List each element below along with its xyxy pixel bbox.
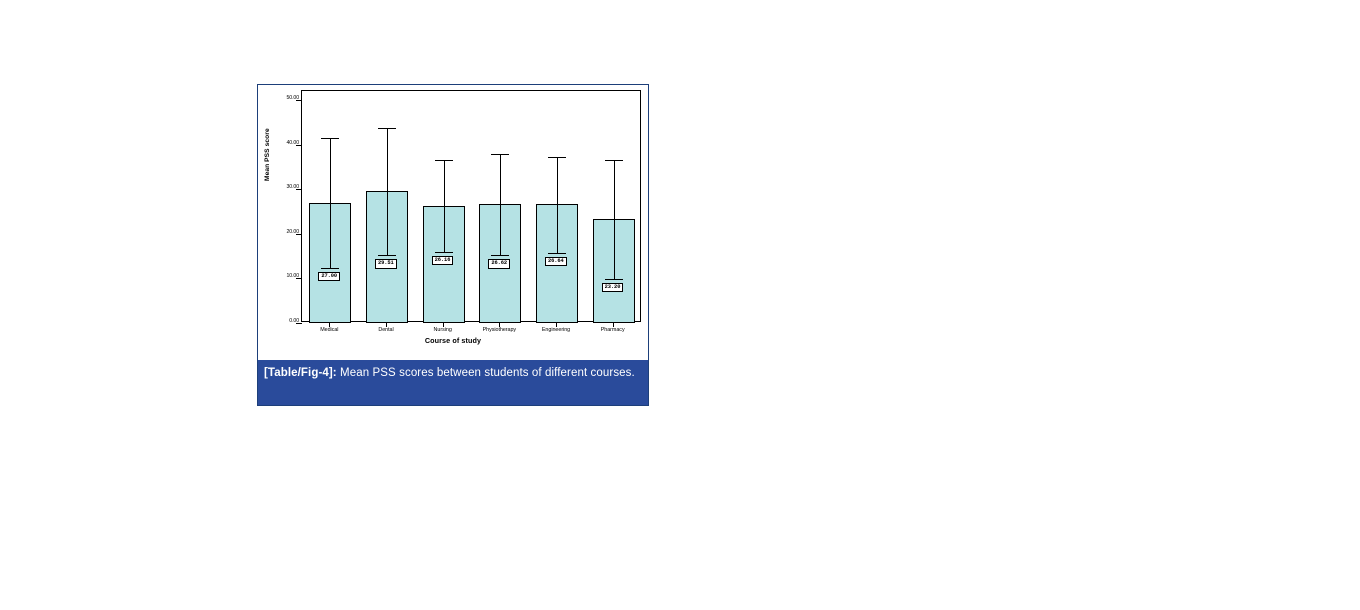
error-bar-cap-lower <box>491 255 509 256</box>
x-axis-category-label: Physiotherapy <box>483 327 517 333</box>
bar-value-label: 26.16 <box>432 256 454 265</box>
error-bar-line <box>500 154 501 255</box>
y-axis-tick-label: 20.00 <box>287 229 299 235</box>
error-bar-cap-lower <box>548 253 566 254</box>
error-bar-line <box>387 128 388 255</box>
error-bar-line <box>330 138 331 267</box>
error-bar-line <box>557 157 558 253</box>
x-axis-category-label: Pharmacy <box>601 327 625 333</box>
figure-caption: [Table/Fig-4]: Mean PSS scores between s… <box>257 360 649 406</box>
error-bar-cap-upper <box>548 157 566 158</box>
error-bar-cap-upper <box>435 160 453 161</box>
x-axis-category-label: Nursing <box>434 327 452 333</box>
error-bar-cap-lower <box>605 279 623 280</box>
chart-panel: Mean PSS score 0.0010.0020.0030.0040.005… <box>257 84 649 360</box>
bar-value-label: 29.51 <box>375 259 397 268</box>
x-axis-category-label: Engineering <box>542 327 570 333</box>
error-bar-cap-lower <box>378 255 396 256</box>
x-axis-category-label: Medical <box>320 327 338 333</box>
figure-container: Mean PSS score 0.0010.0020.0030.0040.005… <box>257 84 649 406</box>
error-bar-line <box>614 160 615 279</box>
error-bar-cap-upper <box>491 154 509 155</box>
bar-value-label: 27.00 <box>318 272 340 281</box>
caption-text: Mean PSS scores between students of diff… <box>337 367 635 379</box>
error-bar-cap-upper <box>378 128 396 129</box>
error-bar-cap-upper <box>605 160 623 161</box>
y-axis-tick-label: 30.00 <box>287 184 299 190</box>
y-axis-title: Mean PSS score <box>264 128 271 181</box>
error-bar-cap-lower <box>435 252 453 253</box>
plot-area: 0.0010.0020.0030.0040.0050.0027.0029.512… <box>302 91 640 321</box>
caption-tag: [Table/Fig-4]: <box>264 367 337 379</box>
y-axis-tick-label: 0.00 <box>289 318 299 324</box>
x-axis-title: Course of study <box>258 336 648 345</box>
bar-value-label: 26.62 <box>488 259 510 268</box>
error-bar-cap-upper <box>321 138 339 139</box>
y-axis-tick-label: 40.00 <box>287 140 299 146</box>
y-axis-tick-label: 10.00 <box>287 273 299 279</box>
y-axis-tick-label: 50.00 <box>287 95 299 101</box>
bar-value-label: 26.64 <box>545 257 567 266</box>
error-bar-line <box>444 160 445 252</box>
x-axis-category-label: Dental <box>378 327 393 333</box>
error-bar-cap-lower <box>321 268 339 269</box>
plot-frame: 0.0010.0020.0030.0040.0050.0027.0029.512… <box>301 90 641 322</box>
bar-value-label: 23.20 <box>602 283 624 292</box>
